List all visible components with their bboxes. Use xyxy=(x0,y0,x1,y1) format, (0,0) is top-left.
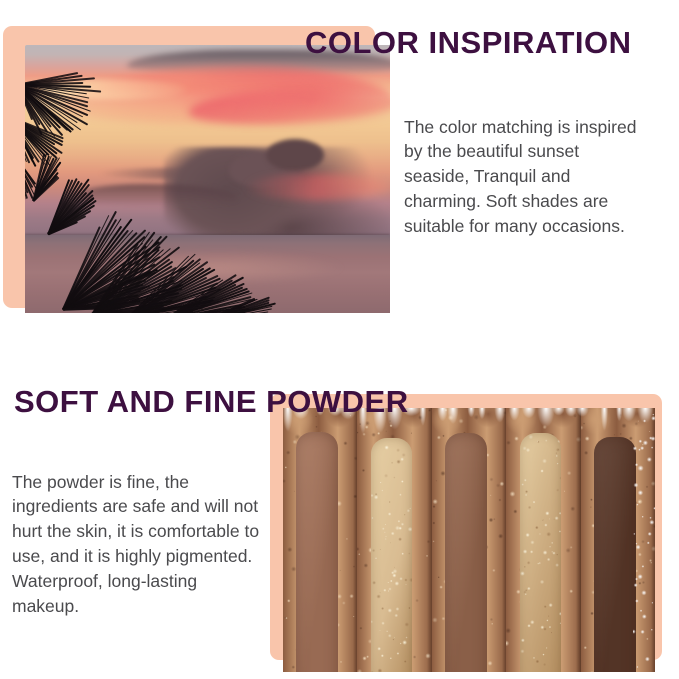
powder-core-matte-dark-brown xyxy=(594,437,636,672)
page-title-color-inspiration: COLOR INSPIRATION xyxy=(305,27,632,58)
powder-core-shimmer-bronze-gold xyxy=(520,433,562,672)
body-text-soft-and-fine-powder: The powder is fine, the ingredients are … xyxy=(12,470,264,619)
sunset-scene xyxy=(25,45,390,313)
palm-frond-silhouettes xyxy=(25,45,390,313)
powder-core-matte-tan xyxy=(296,432,338,672)
powder-white-flecks xyxy=(633,408,655,672)
body-text-color-inspiration: The color matching is inspired by the be… xyxy=(404,115,644,239)
powder-core-matte-medium-brown xyxy=(445,433,487,672)
powder-swatches-photo xyxy=(283,408,655,672)
palm-frond-10 xyxy=(32,200,33,201)
palm-frond-9 xyxy=(47,232,48,233)
powder-core-shimmer-champagne xyxy=(371,438,413,672)
sunset-seaside-photo xyxy=(25,45,390,313)
page-title-soft-and-fine-powder: SOFT AND FINE POWDER xyxy=(14,386,409,417)
palm-frond-4 xyxy=(61,307,62,308)
powder-scene xyxy=(283,408,655,672)
infographic-canvas: COLOR INSPIRATION The color matching is … xyxy=(0,0,679,679)
